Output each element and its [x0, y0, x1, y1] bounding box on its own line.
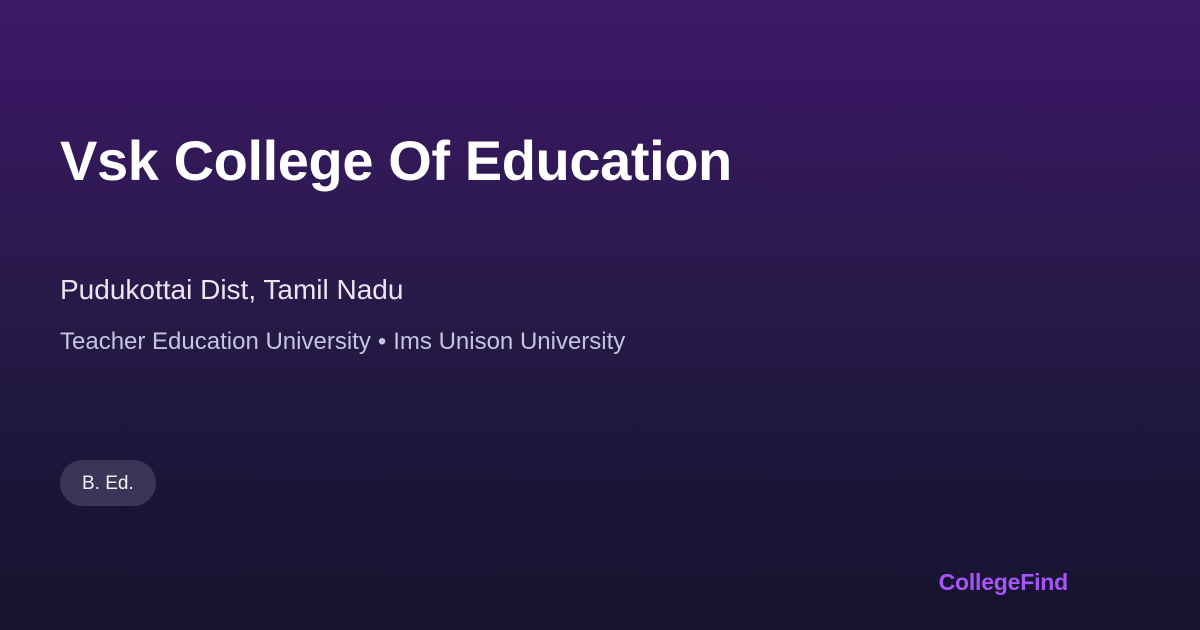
- brand-logo-text: CollegeFind: [939, 568, 1068, 596]
- og-preview-card: Vsk College Of Education Pudukottai Dist…: [0, 0, 1200, 630]
- course-badge-list: B. Ed.: [60, 460, 156, 506]
- card-content: Vsk College Of Education Pudukottai Dist…: [60, 0, 1140, 630]
- college-type: Teacher Education University: [60, 328, 371, 355]
- course-badge-b-ed: B. Ed.: [60, 460, 156, 506]
- college-affiliation: Ims Unison University: [393, 328, 625, 355]
- page-title: Vsk College Of Education: [60, 127, 732, 195]
- meta-separator-bullet-icon: •: [378, 327, 386, 357]
- college-meta: Teacher Education University•Ims Unison …: [60, 327, 625, 357]
- college-location: Pudukottai Dist, Tamil Nadu: [60, 273, 403, 307]
